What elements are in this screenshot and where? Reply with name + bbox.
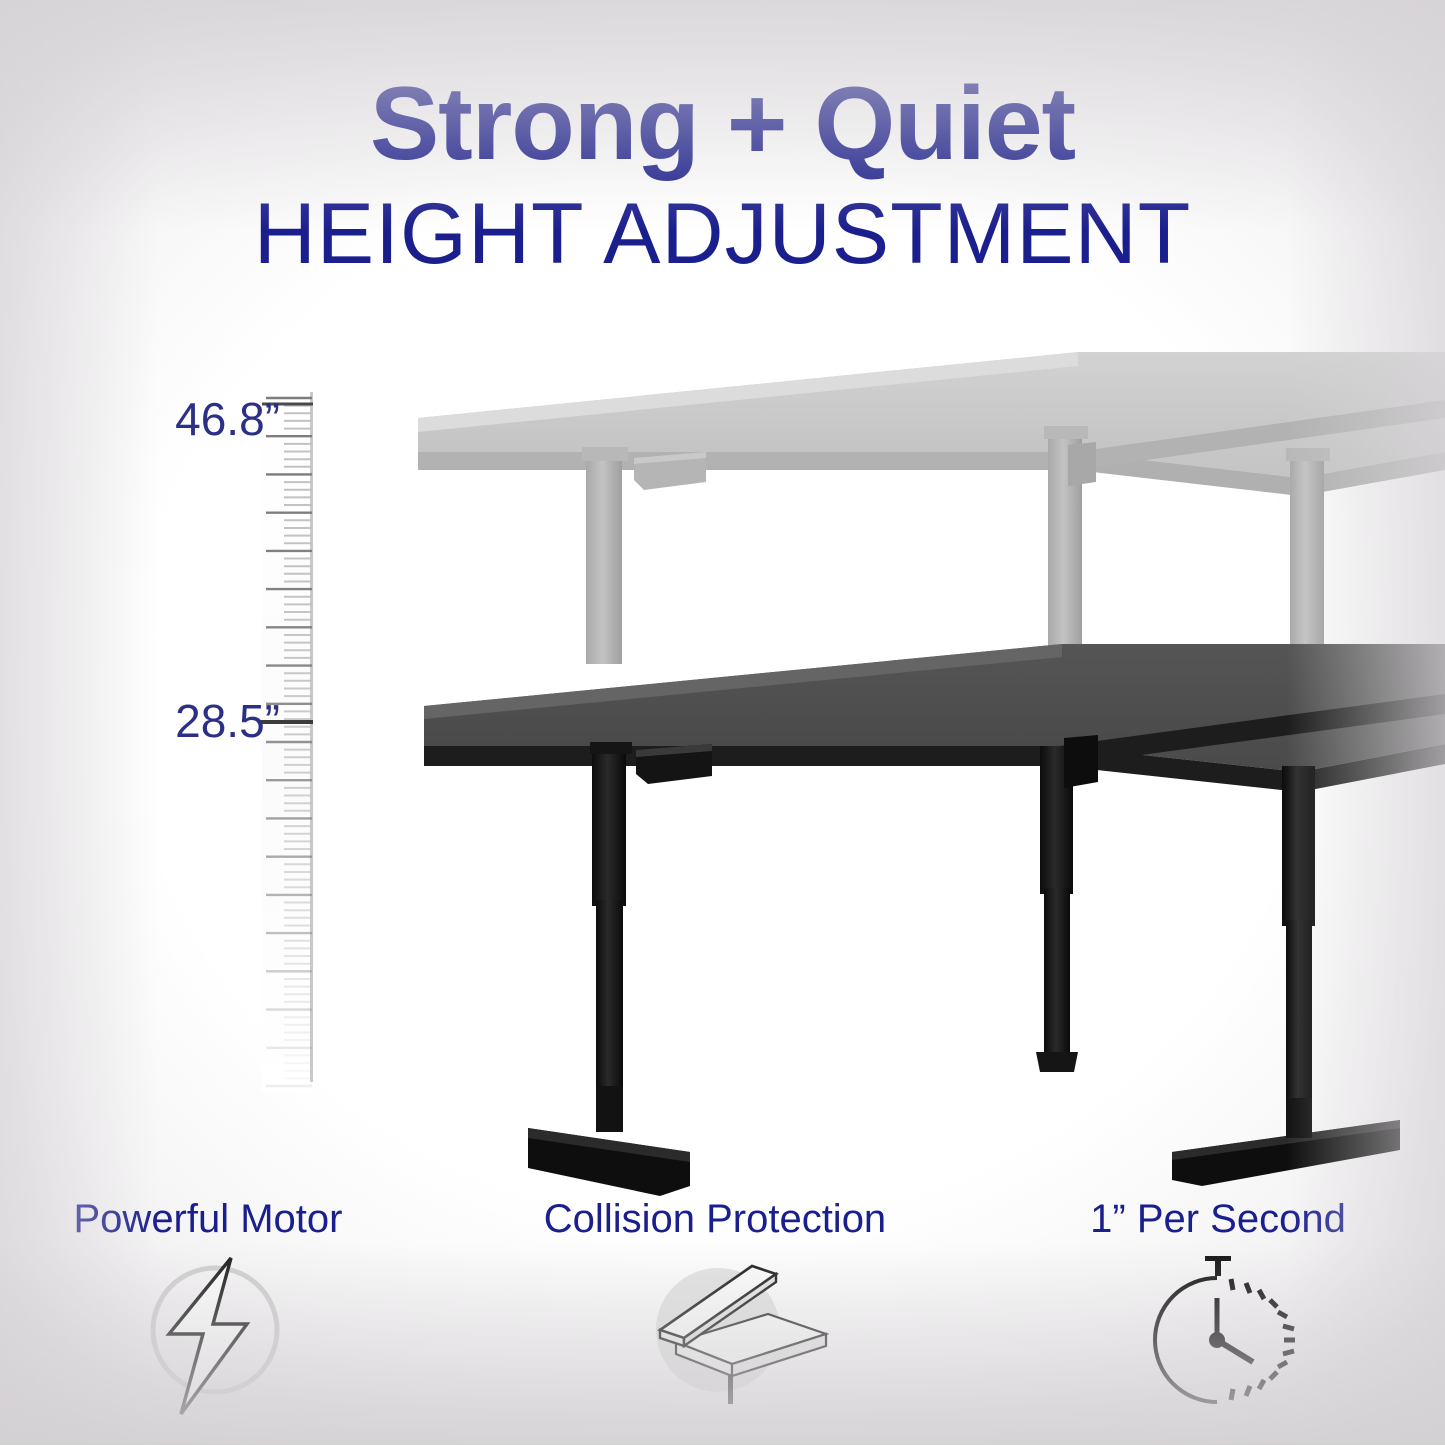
feature-powerful-motor: Powerful Motor [8,1196,408,1421]
colliding-desktops-icon [515,1256,915,1421]
feature-label: 1” Per Second [1018,1196,1418,1242]
clock-icon [1018,1256,1418,1421]
feature-row: Powerful Motor Collision Protection [0,1196,1445,1446]
feature-speed: 1” Per Second [1018,1196,1418,1421]
feature-collision-protection: Collision Protection [515,1196,915,1421]
infographic-canvas: Strong + Quiet HEIGHT ADJUSTMENT [0,0,1445,1445]
feature-label: Collision Protection [515,1196,915,1242]
lightning-bolt-icon [8,1256,408,1421]
feature-label: Powerful Motor [8,1196,408,1242]
clock-top-marker [1205,1256,1231,1276]
